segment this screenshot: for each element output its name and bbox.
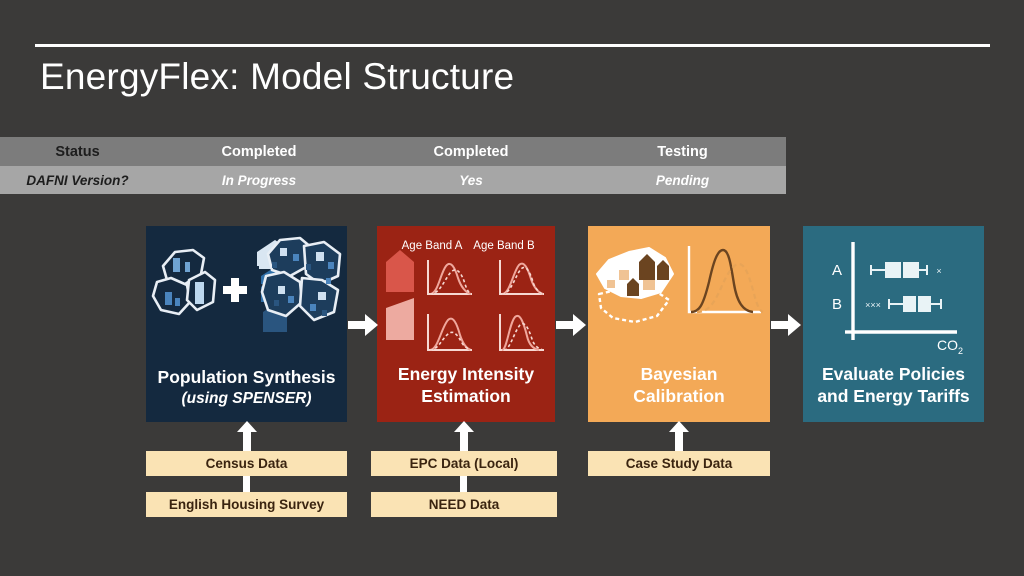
page-title: EnergyFlex: Model Structure [40,56,514,98]
stage-label-population-synthesis: Population Synthesis (using SPENSER) [146,367,347,408]
input-arrow-to-energy-intensity [453,421,475,451]
status-cell-yes: Yes [363,166,579,194]
stage-energy-intensity-estimation[interactable]: Age Band A Age Band B [377,226,555,422]
status-cell-in-progress: In Progress [155,166,363,194]
stage-bayesian-calibration[interactable]: Bayesian Calibration [588,226,770,422]
status-header-cell-status: Status [0,137,155,166]
title-divider-rule [35,44,990,47]
input-arrow-to-population-synthesis [236,421,258,451]
status-header-cell-completed-2: Completed [363,137,579,166]
svg-text:×××: ××× [865,300,881,310]
status-table-header-row: Status Completed Completed Testing [0,137,786,166]
energy-intensity-distributions-icon: Age Band A Age Band B [380,236,552,358]
age-band-b-label: Age Band B [473,240,535,252]
status-header-cell-completed-1: Completed [155,137,363,166]
stage-label-evaluate-policies: Evaluate Policies and Energy Tariffs [803,364,984,408]
status-cell-dafni-version: DAFNI Version? [0,166,155,194]
input-arrow-to-bayesian-calibration [668,421,690,451]
data-source-epc-data-local[interactable]: EPC Data (Local) [371,451,557,476]
flow-arrow-stage1-to-stage2 [348,313,378,337]
boxplot-axis-label: CO2 [937,337,963,354]
flow-arrow-stage2-to-stage3 [556,313,586,337]
stage-subtitle-text: (using SPENSER) [152,389,341,408]
boxplot-category-b-label: B [831,296,841,313]
boxplot-category-a-label: A [831,262,841,279]
flow-arrow-stage3-to-stage4 [771,313,801,337]
stage-title-text: Population Synthesis [158,367,336,387]
status-header-cell-testing: Testing [579,137,786,166]
stage-evaluate-policies[interactable]: A B × ××× CO2 Evaluat [803,226,984,422]
age-band-a-label: Age Band A [402,240,463,252]
connector-epc-to-need [460,476,467,493]
status-table-row: DAFNI Version? In Progress Yes Pending [0,166,786,194]
data-source-english-housing-survey[interactable]: English Housing Survey [146,492,347,517]
data-source-need-data[interactable]: NEED Data [371,492,557,517]
data-source-case-study-data[interactable]: Case Study Data [588,451,770,476]
population-synthesis-result-icon [260,232,352,344]
status-cell-pending: Pending [579,166,786,194]
stage-label-bayesian-calibration: Bayesian Calibration [588,364,770,408]
data-source-census-data[interactable]: Census Data [146,451,347,476]
bayesian-calibration-icon [591,236,767,341]
stage-label-energy-intensity-estimation: Energy Intensity Estimation [377,364,555,408]
stage-population-synthesis[interactable]: Population Synthesis (using SPENSER) [146,226,347,422]
connector-census-to-english-housing-survey [243,476,250,493]
svg-text:×: × [936,266,941,276]
status-table: Status Completed Completed Testing DAFNI… [0,137,786,194]
boxplot-policy-icon: A B × ××× CO2 [809,236,979,354]
